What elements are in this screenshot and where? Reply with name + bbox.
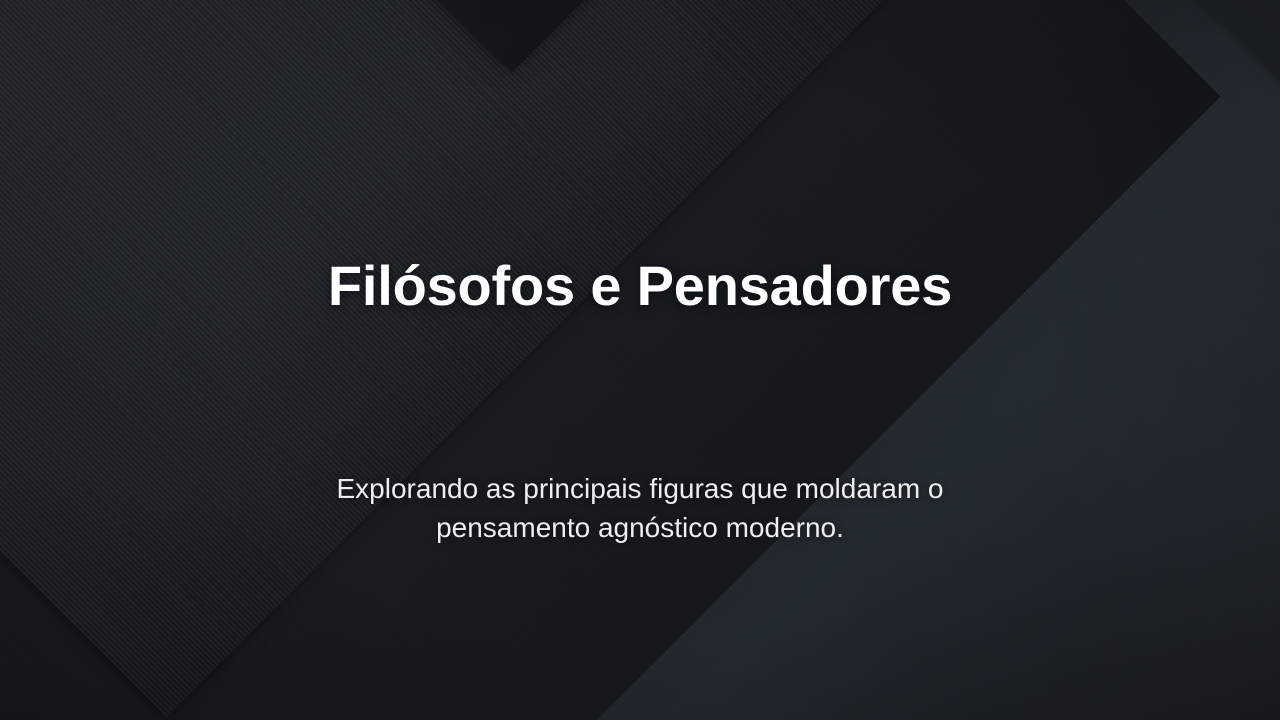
slide-subtitle: Explorando as principais figuras que mol… [290,470,990,547]
title-slide: Filósofos e Pensadores Explorando as pri… [0,0,1280,720]
slide-content: Filósofos e Pensadores Explorando as pri… [0,0,1280,720]
slide-title: Filósofos e Pensadores [328,255,952,317]
